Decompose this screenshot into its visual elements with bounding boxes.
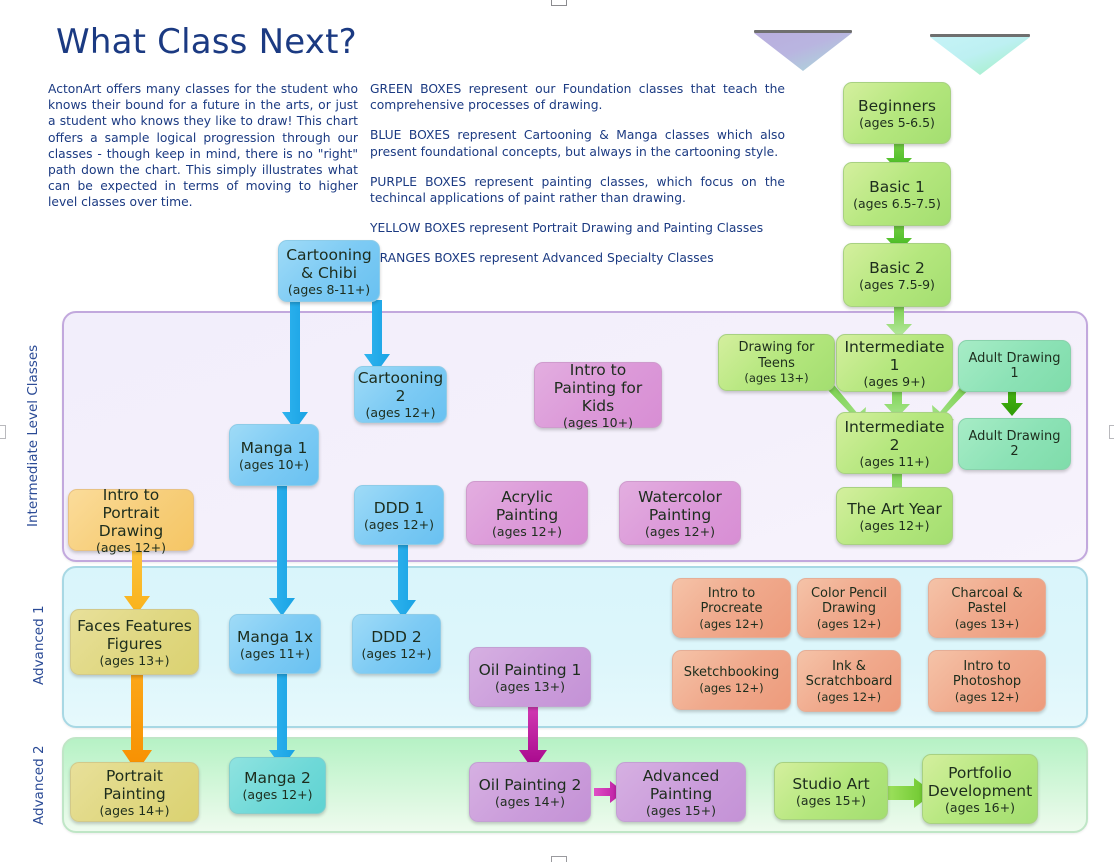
class-name: Oil Painting 1 <box>479 661 582 679</box>
legend-orange: ORANGES BOXES represent Advanced Special… <box>370 250 785 266</box>
arrow-oil1-to-oil2 <box>519 704 547 770</box>
class-ages: (ages 12+) <box>366 405 436 420</box>
class-ages: (ages 7.5-9) <box>859 277 935 292</box>
class-name: Portrait Painting <box>75 767 194 803</box>
class-ages: (ages 12+) <box>492 524 562 539</box>
page-title: What Class Next? <box>56 22 357 62</box>
crop-mark-bottom <box>551 856 567 862</box>
class-ages: (ages 12+) <box>243 787 313 802</box>
class-box-ddd1[interactable]: DDD 1 (ages 12+) <box>354 485 444 545</box>
class-name: The Art Year <box>847 500 942 518</box>
class-name: Manga 1x <box>237 628 313 646</box>
class-box-art-year[interactable]: The Art Year (ages 12+) <box>836 487 953 545</box>
class-name: Sketchbooking <box>684 665 780 681</box>
class-ages: (ages 12+) <box>817 617 881 631</box>
class-name: DDD 1 <box>374 499 425 517</box>
class-name: Acrylic Painting <box>471 488 583 524</box>
class-name: Watercolor Painting <box>624 488 736 524</box>
class-name: Drawing for Teens <box>723 340 830 371</box>
edge-mark-left <box>0 425 6 439</box>
purple-funnel-triangle <box>754 30 852 68</box>
class-name: Faces Features Figures <box>75 617 194 653</box>
band-label-intermediate: Intermediate Level Classes <box>25 331 41 541</box>
class-name: Charcoal & Pastel <box>933 586 1041 617</box>
band-label-advanced-1: Advanced 1 <box>31 585 47 705</box>
class-ages: (ages 13+) <box>955 617 1019 631</box>
class-ages: (ages 12+) <box>817 690 881 704</box>
legend-purple: PURPLE BOXES represent painting classes,… <box>370 174 785 206</box>
legend-yellow: YELLOW BOXES represent Portrait Drawing … <box>370 220 785 236</box>
band-label-advanced-2: Advanced 2 <box>31 740 47 830</box>
class-box-charcoal-pastel[interactable]: Charcoal & Pastel (ages 13+) <box>928 578 1046 638</box>
class-name: Cartooning & Chibi <box>283 246 375 282</box>
class-name: Advanced Painting <box>621 767 741 803</box>
class-ages: (ages 12+) <box>96 540 166 555</box>
class-box-color-pencil-drawing[interactable]: Color Pencil Drawing (ages 12+) <box>797 578 901 638</box>
class-box-manga1[interactable]: Manga 1 (ages 10+) <box>229 424 319 486</box>
class-box-portfolio-development[interactable]: Portfolio Development (ages 16+) <box>922 754 1038 824</box>
arrow-intro-portrait-to-faces <box>124 548 150 614</box>
class-name: Adult Drawing 1 <box>963 351 1066 382</box>
arrow-chibi-to-manga1 <box>282 300 308 430</box>
class-box-cartooning2[interactable]: Cartooning 2 (ages 12+) <box>354 366 447 423</box>
class-name: Manga 2 <box>244 769 311 787</box>
class-box-intro-procreate[interactable]: Intro to Procreate (ages 12+) <box>672 578 791 638</box>
class-name: Intermediate 1 <box>841 338 948 374</box>
class-ages: (ages 10+) <box>563 415 633 430</box>
class-ages: (ages 11+) <box>860 454 930 469</box>
class-box-studio-art[interactable]: Studio Art (ages 15+) <box>774 762 888 820</box>
class-box-manga2[interactable]: Manga 2 (ages 12+) <box>229 757 326 814</box>
class-box-adult-drawing2[interactable]: Adult Drawing 2 <box>958 418 1071 470</box>
class-box-drawing-for-teens[interactable]: Drawing for Teens (ages 13+) <box>718 334 835 391</box>
arrow-manga1-to-manga1x <box>269 480 295 616</box>
class-box-intermediate1[interactable]: Intermediate 1 (ages 9+) <box>836 334 953 392</box>
arrow-faces-to-portrait-painting <box>122 670 152 772</box>
class-ages: (ages 11+) <box>240 646 310 661</box>
class-name: Basic 1 <box>869 178 925 196</box>
intro-paragraph: ActonArt offers many classes for the stu… <box>48 81 358 211</box>
class-ages: (ages 16+) <box>945 800 1015 815</box>
arrow-chibi-to-cartooning2 <box>364 300 390 372</box>
class-ages: (ages 12+) <box>699 681 763 695</box>
class-name: Intro to Portrait Drawing <box>73 486 189 540</box>
class-box-oil-painting1[interactable]: Oil Painting 1 (ages 13+) <box>469 647 591 707</box>
legend-blue: BLUE BOXES represent Cartooning & Manga … <box>370 127 785 159</box>
class-box-faces-features-figures[interactable]: Faces Features Figures (ages 13+) <box>70 609 199 675</box>
class-ages: (ages 15+) <box>646 803 716 818</box>
class-name: Beginners <box>858 97 936 115</box>
class-box-basic2[interactable]: Basic 2 (ages 7.5-9) <box>843 243 951 307</box>
class-ages: (ages 12+) <box>362 646 432 661</box>
class-ages: (ages 12+) <box>364 517 434 532</box>
arrow-ddd1-to-ddd2 <box>390 540 416 618</box>
class-box-ink-scratchboard[interactable]: Ink & Scratchboard (ages 12+) <box>797 650 901 712</box>
arrow-manga1x-to-manga2 <box>269 668 295 768</box>
class-ages: (ages 13+) <box>495 679 565 694</box>
class-box-manga1x[interactable]: Manga 1x (ages 11+) <box>229 614 321 674</box>
class-name: Portfolio Development <box>927 764 1033 800</box>
class-name: Cartooning 2 <box>358 369 444 405</box>
class-name: Studio Art <box>792 775 869 793</box>
class-name: Intro to Painting for Kids <box>539 361 657 415</box>
class-ages: (ages 12+) <box>860 518 930 533</box>
class-name: DDD 2 <box>371 628 422 646</box>
class-box-oil-painting2[interactable]: Oil Painting 2 (ages 14+) <box>469 762 591 822</box>
class-box-sketchbooking[interactable]: Sketchbooking (ages 12+) <box>672 650 791 710</box>
class-ages: (ages 5-6.5) <box>859 115 935 130</box>
class-box-ddd2[interactable]: DDD 2 (ages 12+) <box>352 614 441 674</box>
class-name: Oil Painting 2 <box>479 776 582 794</box>
class-name: Adult Drawing 2 <box>963 429 1066 460</box>
class-ages: (ages 14+) <box>495 794 565 809</box>
class-ages: (ages 12+) <box>699 617 763 631</box>
class-name: Color Pencil Drawing <box>802 586 896 617</box>
class-box-intro-photoshop[interactable]: Intro to Photoshop (ages 12+) <box>928 650 1046 712</box>
class-ages: (ages 13+) <box>744 371 808 385</box>
class-box-intro-painting-for-kids[interactable]: Intro to Painting for Kids (ages 10+) <box>534 362 662 428</box>
legend-green: GREEN BOXES represent our Foundation cla… <box>370 81 785 113</box>
edge-mark-right <box>1109 425 1114 439</box>
class-ages: (ages 12+) <box>955 690 1019 704</box>
class-box-advanced-painting[interactable]: Advanced Painting (ages 15+) <box>616 762 746 822</box>
class-box-adult-drawing1[interactable]: Adult Drawing 1 <box>958 340 1071 392</box>
class-name: Ink & Scratchboard <box>802 659 896 690</box>
class-box-basic1[interactable]: Basic 1 (ages 6.5-7.5) <box>843 162 951 226</box>
class-ages: (ages 13+) <box>100 653 170 668</box>
class-ages: (ages 10+) <box>239 457 309 472</box>
class-box-watercolor-painting[interactable]: Watercolor Painting (ages 12+) <box>619 481 741 545</box>
cyan-funnel-triangle <box>930 34 1030 72</box>
class-box-portrait-painting[interactable]: Portrait Painting (ages 14+) <box>70 762 199 822</box>
class-ages: (ages 6.5-7.5) <box>853 196 941 211</box>
class-ages: (ages 9+) <box>864 374 926 389</box>
class-ages: (ages 12+) <box>645 524 715 539</box>
class-box-beginners[interactable]: Beginners (ages 5-6.5) <box>843 82 951 144</box>
legend: GREEN BOXES represent our Foundation cla… <box>370 81 785 281</box>
class-box-acrylic-painting[interactable]: Acrylic Painting (ages 12+) <box>466 481 588 545</box>
class-ages: (ages 15+) <box>796 793 866 808</box>
class-name: Intermediate 2 <box>841 418 948 454</box>
class-box-intro-portrait-drawing[interactable]: Intro to Portrait Drawing (ages 12+) <box>68 489 194 551</box>
crop-mark-top <box>551 0 567 6</box>
class-name: Intro to Procreate <box>677 586 786 617</box>
class-ages: (ages 14+) <box>100 803 170 818</box>
class-box-intermediate2[interactable]: Intermediate 2 (ages 11+) <box>836 412 953 474</box>
class-name: Basic 2 <box>869 259 925 277</box>
class-ages: (ages 8-11+) <box>288 282 370 297</box>
class-name: Manga 1 <box>241 439 308 457</box>
class-name: Intro to Photoshop <box>933 659 1041 690</box>
class-box-cartooning-chibi[interactable]: Cartooning & Chibi (ages 8-11+) <box>278 240 380 302</box>
